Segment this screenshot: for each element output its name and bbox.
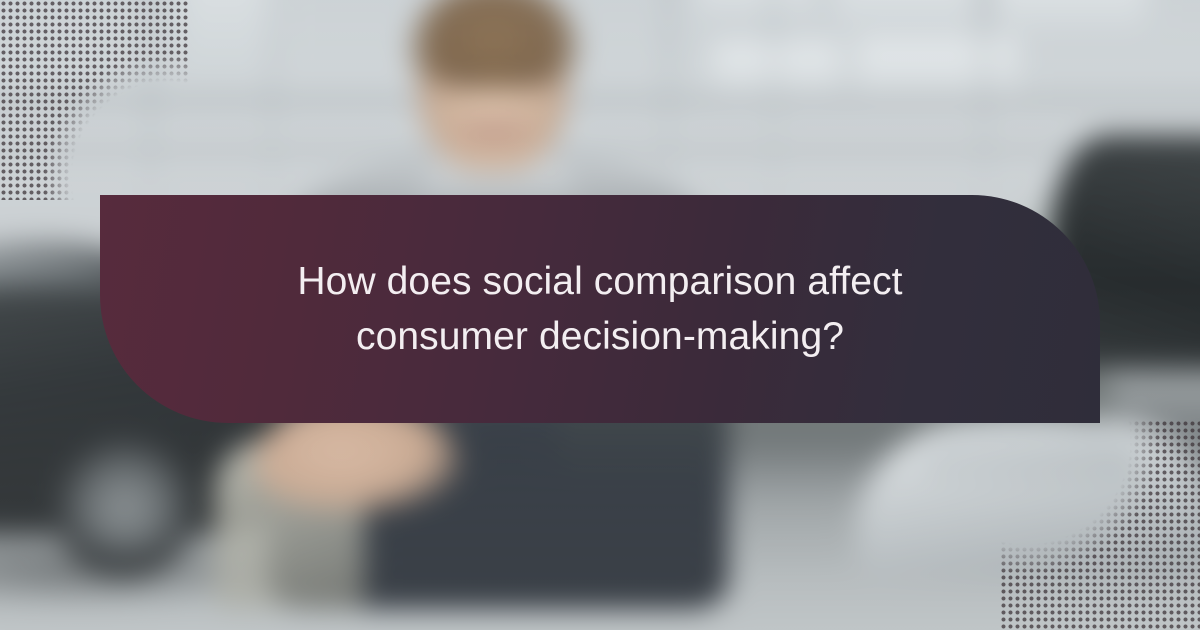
page-title: How does social comparison affect consum… bbox=[215, 254, 985, 365]
ceiling-rail bbox=[0, 96, 1200, 113]
window-panel bbox=[996, 0, 1146, 29]
ceiling-rail bbox=[0, 145, 1200, 156]
window-mullion bbox=[980, 0, 990, 192]
headline-banner: How does social comparison affect consum… bbox=[100, 195, 1100, 423]
person-mouth bbox=[459, 123, 530, 140]
person-hair bbox=[410, 0, 579, 87]
person-eye-left bbox=[442, 72, 485, 85]
window-mullion bbox=[145, 0, 156, 192]
person-eye-right bbox=[510, 70, 553, 83]
window-mullion bbox=[664, 0, 673, 192]
window-mullion bbox=[268, 0, 275, 192]
window-panel bbox=[696, 0, 814, 19]
social-share-card: How does social comparison affect consum… bbox=[0, 0, 1200, 630]
window-panel bbox=[835, 0, 974, 27]
window-mullion bbox=[771, 0, 777, 192]
window-panel bbox=[857, 38, 1018, 100]
window-panel bbox=[183, 0, 279, 83]
